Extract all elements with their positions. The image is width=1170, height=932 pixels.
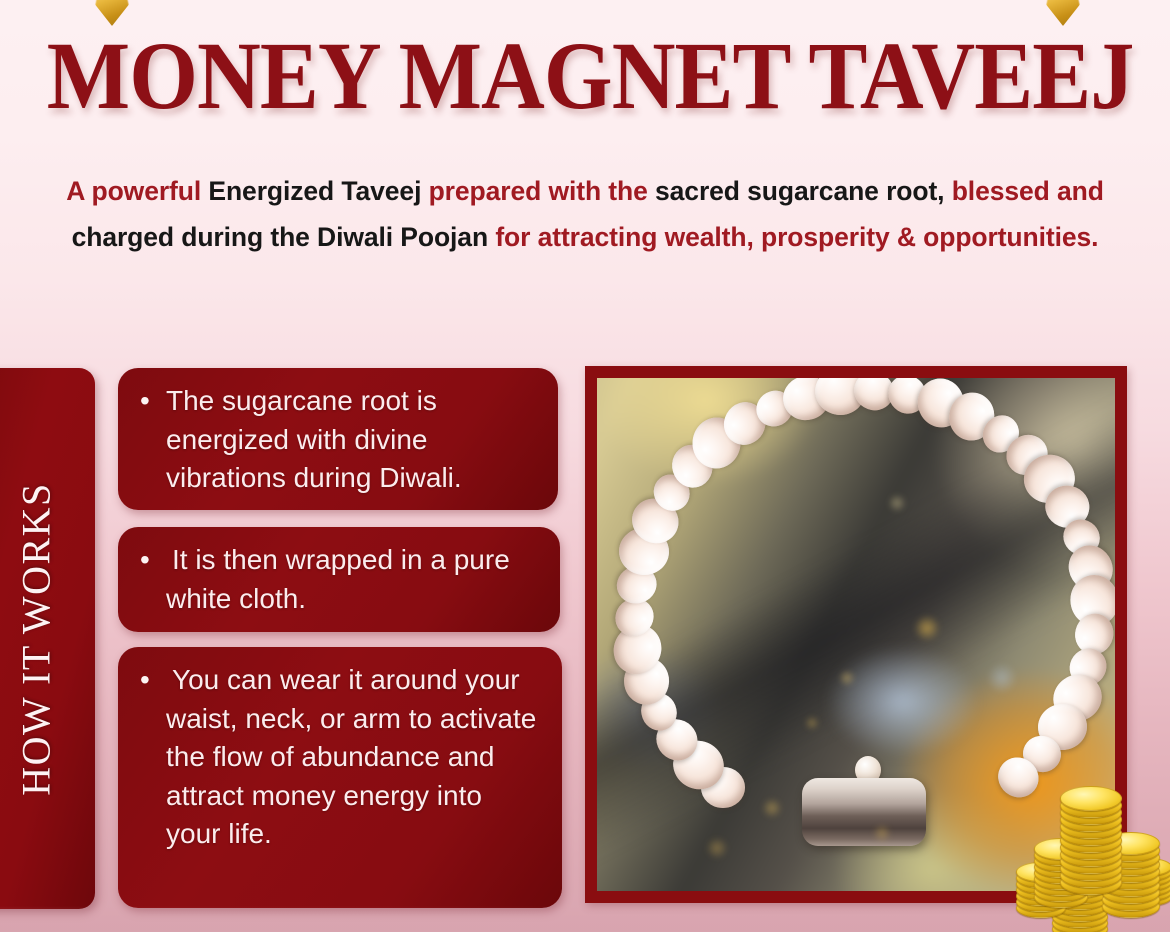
page-title: MONEY MAGNET TAVEEJ <box>47 24 1123 128</box>
photo-bokeh <box>873 824 891 842</box>
subtitle-segment-4: sacred sugarcane root, <box>655 176 952 206</box>
photo-bokeh <box>987 663 1017 693</box>
taveej-pendant <box>802 778 926 846</box>
photo-bokeh <box>839 670 855 686</box>
photo-bokeh <box>805 716 819 730</box>
photo-bokeh <box>888 494 906 512</box>
photo-bokeh <box>914 615 940 641</box>
step-card-3: • You can wear it around your waist, nec… <box>118 647 562 908</box>
bottom-fade-strip <box>0 906 1170 932</box>
step-card-2-text: It is then wrapped in a pure white cloth… <box>166 541 542 618</box>
step-card-3-text: You can wear it around your waist, neck,… <box>166 661 544 854</box>
bullet-icon: • <box>140 661 166 700</box>
gold-coins-graphic <box>1016 766 1170 916</box>
subtitle-segment-7: for attracting wealth, prosperity & oppo… <box>495 222 1098 252</box>
subtitle-segment-3: prepared with the <box>429 176 655 206</box>
photo-bokeh <box>706 837 728 859</box>
bullet-icon: • <box>140 541 166 580</box>
photo-highlight <box>825 645 980 758</box>
coin-top <box>1060 786 1122 811</box>
subtitle-segment-6: charged during the Diwali Poojan <box>72 222 496 252</box>
step-card-1: • The sugarcane root is energized with d… <box>118 368 558 510</box>
how-it-works-label: HOW IT WORKS <box>12 482 59 796</box>
subtitle-segment-5: blessed and <box>952 176 1104 206</box>
subtitle-segment-1: A powerful <box>66 176 208 206</box>
how-it-works-panel: HOW IT WORKS <box>0 368 95 909</box>
poster-canvas: MONEY MAGNET TAVEEJ A powerful Energized… <box>0 0 1170 932</box>
subtitle-paragraph: A powerful Energized Taveej prepared wit… <box>60 168 1110 260</box>
step-card-2: • It is then wrapped in a pure white clo… <box>118 527 560 632</box>
subtitle-segment-2: Energized Taveej <box>208 176 428 206</box>
step-card-1-text: The sugarcane root is energized with div… <box>166 382 540 498</box>
photo-bokeh <box>762 798 782 818</box>
bullet-icon: • <box>140 382 166 421</box>
